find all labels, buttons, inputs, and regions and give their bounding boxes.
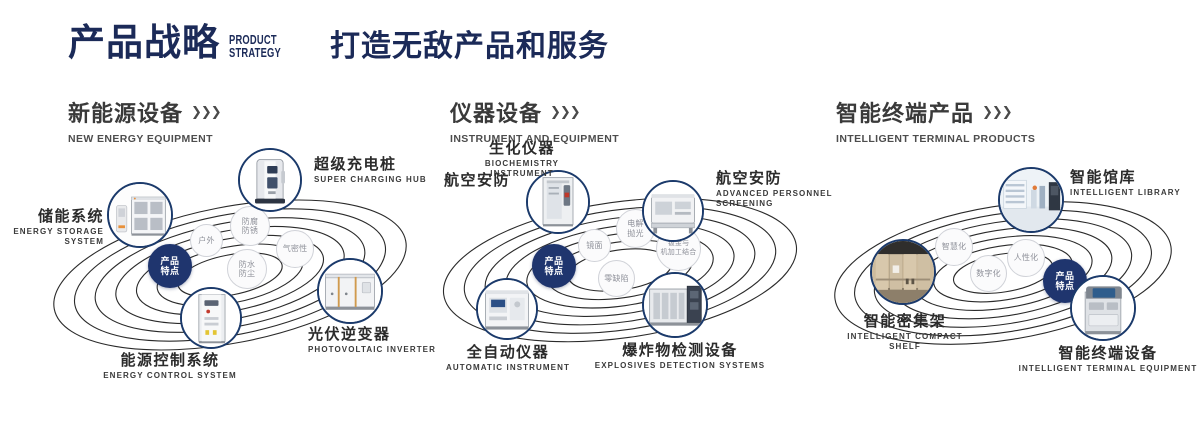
node-explosives-detection-systems[interactable] xyxy=(642,272,708,338)
core-bubble-product-features: 产品 特点 xyxy=(148,244,192,288)
label-intelligent-compact-shelf: 智能密集架 INTELLIGENT COMPACT SHELF xyxy=(810,313,1000,352)
section-title-cn: 仪器设备 xyxy=(450,96,542,128)
feature-bubble: 智慧化 xyxy=(935,228,973,266)
core-bubble-product-features: 产品 特点 xyxy=(532,244,576,288)
terminal-kiosk-icon xyxy=(1072,277,1134,339)
label-intelligent-terminal-equipment: 智能终端设备 INTELLIGENT TERMINAL EQUIPMENT xyxy=(1018,345,1198,374)
feature-bubble: 数字化 xyxy=(970,255,1007,292)
feature-bubble: 气密性 xyxy=(276,230,314,268)
section-title-cn: 智能终端产品 xyxy=(836,96,974,128)
label-intelligent-library: 智能馆库 INTELLIGENT LIBRARY xyxy=(1070,169,1200,198)
label-explosives-detection-systems: 爆炸物检测设备 EXPLOSIVES DETECTION SYSTEMS xyxy=(590,342,770,371)
explosives-detector-icon xyxy=(644,274,706,336)
node-intelligent-library[interactable] xyxy=(998,167,1064,233)
charging-pile-icon xyxy=(240,150,300,210)
node-biochemistry-instrument[interactable] xyxy=(526,170,590,234)
page-subtitle: 打造无敌产品和服务 xyxy=(330,32,609,62)
screening-machine-icon xyxy=(644,182,702,240)
node-intelligent-compact-shelf[interactable] xyxy=(870,239,936,305)
section-title-en: NEW ENERGY EQUIPMENT xyxy=(68,133,221,145)
feature-bubble: 镜面 xyxy=(578,229,611,262)
inverter-cabinet-icon xyxy=(319,260,381,322)
chevron-right-triple-icon: ❯❯❯ xyxy=(550,104,580,120)
node-photovoltaic-inverter[interactable] xyxy=(317,258,383,324)
product-strategy-infographic: 产品战略 PRODUCT STRATEGY 打造无敌产品和服务 新能源设备❯❯❯… xyxy=(0,0,1200,422)
automatic-instrument-icon xyxy=(478,280,536,338)
node-energy-control-system[interactable] xyxy=(180,287,242,349)
compact-shelf-icon xyxy=(872,241,934,303)
diagram-instrument: 镜面 电解 抛光 钣金与 机加工结合 零缺陷 产品 特点 航空安防 生化仪器 xyxy=(430,150,810,380)
control-cabinet-icon xyxy=(182,289,240,347)
page-title-cn: 产品战略 xyxy=(68,24,220,61)
page-header: 产品战略 PRODUCT STRATEGY xyxy=(68,24,301,61)
feature-bubble: 防腐 防锈 xyxy=(230,206,270,246)
battery-cabinet-icon xyxy=(109,184,171,246)
label-energy-storage-system: 储能系统 ENERGY STORAGE SYSTEM xyxy=(0,208,104,247)
chevron-right-triple-icon: ❯❯❯ xyxy=(982,104,1012,120)
chevron-right-triple-icon: ❯❯❯ xyxy=(191,104,221,120)
node-super-charging-hub[interactable] xyxy=(238,148,302,212)
section-title-intelligent-terminal: 智能终端产品❯❯❯ INTELLIGENT TERMINAL PRODUCTS xyxy=(836,96,1035,145)
node-intelligent-terminal-equipment[interactable] xyxy=(1070,275,1136,341)
diagram-new-energy: 户外 防腐 防锈 防水 防尘 气密性 产品 特点 储能系统 xyxy=(40,150,420,380)
feature-bubble: 人性化 xyxy=(1007,239,1045,277)
feature-bubble: 防水 防尘 xyxy=(227,249,267,289)
label-energy-control-system: 能源控制系统 ENERGY CONTROL SYSTEM xyxy=(50,352,290,381)
section-title-new-energy: 新能源设备❯❯❯ NEW ENERGY EQUIPMENT xyxy=(68,96,221,145)
section-title-instrument: 仪器设备❯❯❯ INSTRUMENT AND EQUIPMENT xyxy=(450,96,619,145)
feature-bubble: 零缺陷 xyxy=(598,260,635,297)
page-title-en: PRODUCT STRATEGY xyxy=(229,34,281,59)
label-automatic-instrument: 全自动仪器 AUTOMATIC INSTRUMENT xyxy=(408,344,608,373)
diagram-intelligent-terminal: 智慧化 人性化 数字化 产品 特点 智能馆库 INTELLIGEN xyxy=(818,155,1188,380)
node-automatic-instrument[interactable] xyxy=(476,278,538,340)
smart-library-icon xyxy=(1000,169,1062,231)
section-title-cn: 新能源设备 xyxy=(68,96,183,128)
section-title-en: INTELLIGENT TERMINAL PRODUCTS xyxy=(836,133,1035,145)
biochem-analyzer-icon xyxy=(528,172,588,232)
node-advanced-personnel-screening[interactable] xyxy=(642,180,704,242)
label-biochemistry-instrument: 生化仪器 BIOCHEMISTRY INSTRUMENT xyxy=(452,140,592,179)
node-energy-storage-system[interactable] xyxy=(107,182,173,248)
feature-bubble: 户外 xyxy=(190,224,223,257)
